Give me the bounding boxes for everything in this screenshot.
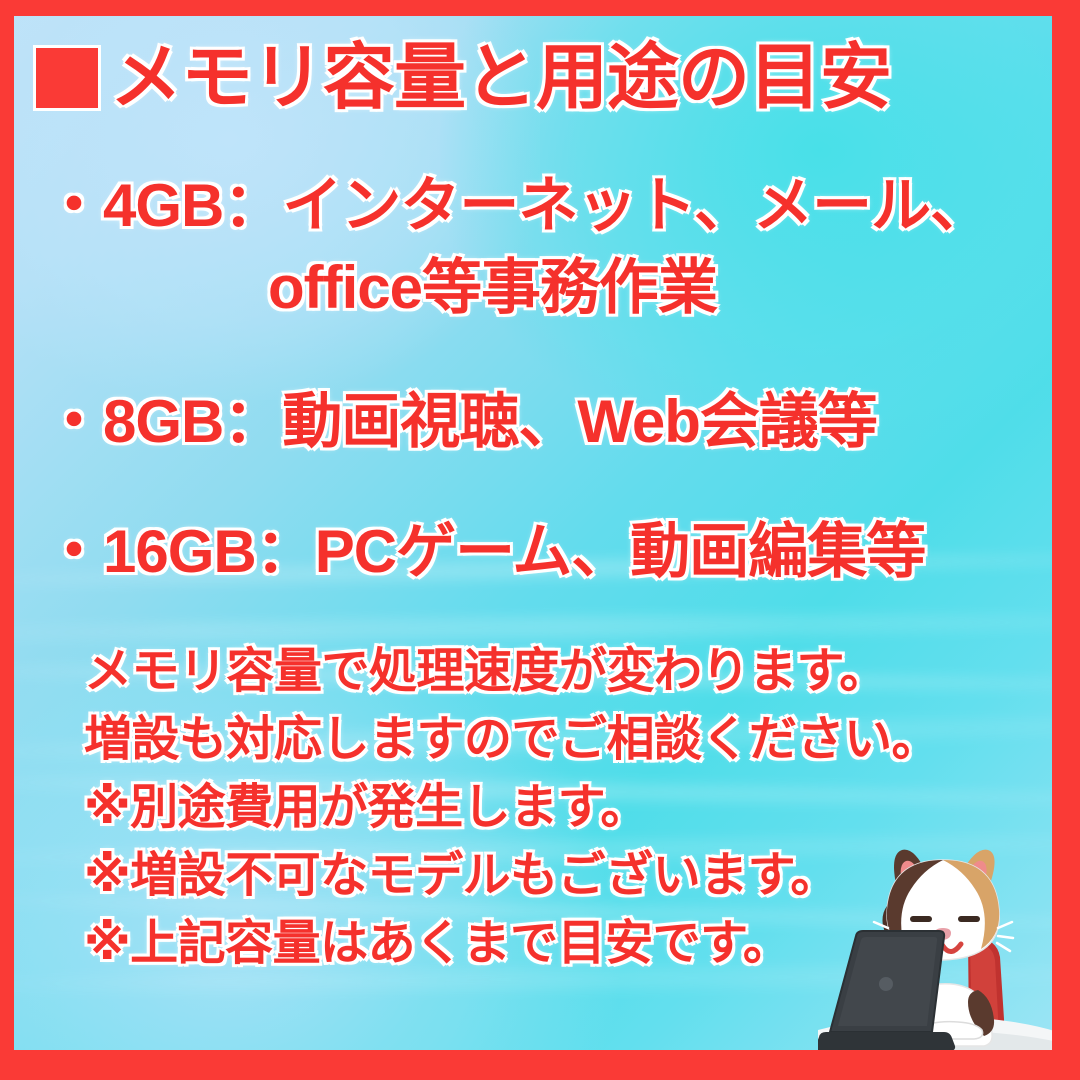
poster-canvas: メモリ容量と用途の目安 ・4GB：インターネット、メール、 office等事務作… [0, 0, 1080, 1080]
note-line: 増設も対応しますのでご相談ください。 [84, 706, 939, 774]
note-line: ※別途費用が発生します。 [84, 774, 939, 842]
note-line: ※増設不可なモデルもございます。 [84, 842, 939, 910]
spec-item-4gb-line1: ・4GB：インターネット、メール、 [44, 176, 989, 236]
spec-item-8gb-line1: ・8GB：動画視聴、Web会議等 [44, 392, 877, 452]
cat-eye-right [958, 916, 980, 922]
title-square-icon [36, 48, 98, 108]
spec-item-4gb-line2: office等事務作業 [268, 258, 717, 318]
spec-item-16gb-line1: ・16GB：PCゲーム、動画編集等 [44, 522, 925, 582]
notes-block: メモリ容量で処理速度が変わります。 増設も対応しますのでご相談ください。 ※別途… [84, 638, 939, 978]
note-line: メモリ容量で処理速度が変わります。 [84, 638, 939, 706]
laptop-logo-icon [879, 977, 893, 991]
page-title: メモリ容量と用途の目安 [36, 42, 891, 114]
cat-eye-left [910, 916, 932, 922]
poster-content: メモリ容量と用途の目安 ・4GB：インターネット、メール、 office等事務作… [0, 0, 1080, 1080]
calico-cat-laptop-illustration [818, 844, 1058, 1054]
laptop-shape [818, 931, 955, 1051]
note-line: ※上記容量はあくまで目安です。 [84, 910, 939, 978]
title-label: メモリ容量と用途の目安 [110, 42, 891, 114]
